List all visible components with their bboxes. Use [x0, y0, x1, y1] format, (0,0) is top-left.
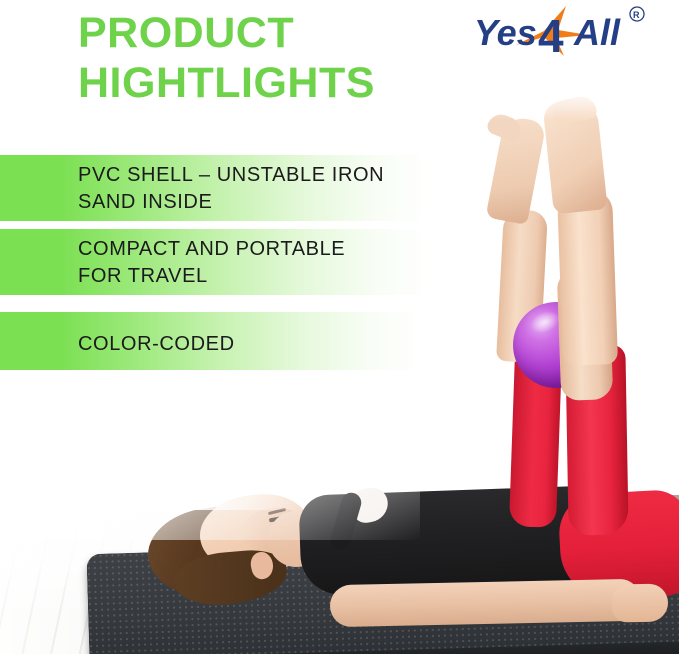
- product-highlights-banner: Yes 4 All R PRODUCT HIGHTLIGHTS PVC SHEL…: [0, 0, 679, 654]
- page-title: PRODUCT HIGHTLIGHTS: [78, 8, 438, 108]
- feature-label-1: PVC SHELL – UNSTABLE IRON SAND INSIDE: [78, 162, 384, 216]
- svg-text:Yes: Yes: [474, 12, 537, 53]
- hand: [612, 584, 669, 623]
- arm: [330, 579, 641, 627]
- svg-text:R: R: [633, 10, 640, 20]
- feature-label-2: COMPACT AND PORTABLE FOR TRAVEL: [78, 236, 345, 290]
- svg-text:All: All: [573, 12, 621, 53]
- feature-label-3: COLOR-CODED: [78, 331, 235, 358]
- photo-fade-right: [630, 90, 679, 390]
- photo-fade-left: [0, 90, 300, 510]
- yes4all-logo: Yes 4 All R: [470, 4, 660, 56]
- right-shin: [557, 189, 618, 366]
- svg-text:4: 4: [538, 10, 564, 56]
